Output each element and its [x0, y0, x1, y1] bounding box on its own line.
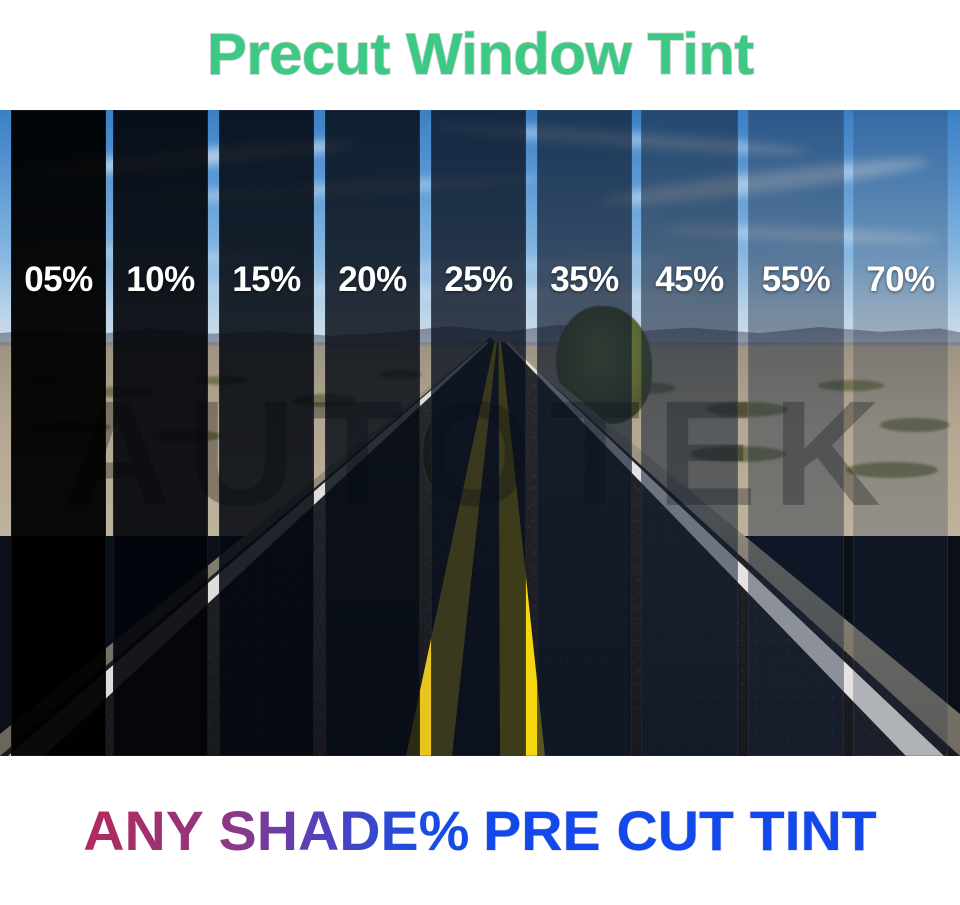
- tagline-bar: ANY SHADE% PRE CUT TINT: [0, 756, 960, 905]
- tint-strip-label: 35%: [550, 262, 619, 297]
- tint-preview-photo: AUTOTEK 05% 10% 15% 20% 25% 35% 45%: [0, 110, 960, 756]
- tint-strip-label: 45%: [655, 262, 724, 297]
- tint-strip-10[interactable]: 10%: [113, 110, 208, 756]
- tint-strip-label: 20%: [338, 262, 407, 297]
- title-bar: Precut Window Tint: [0, 0, 960, 110]
- tint-strip-35[interactable]: 35%: [537, 110, 632, 756]
- tint-strip-15[interactable]: 15%: [219, 110, 314, 756]
- tint-strip-05[interactable]: 05%: [11, 110, 106, 756]
- tint-strip-25[interactable]: 25%: [431, 110, 526, 756]
- tint-strip-20[interactable]: 20%: [325, 110, 420, 756]
- tint-strip-45[interactable]: 45%: [641, 110, 738, 756]
- tagline-pre-cut-tint: PRE CUT TINT: [484, 803, 877, 859]
- page-title: Precut Window Tint: [207, 26, 754, 84]
- tint-strip-label: 05%: [24, 262, 93, 297]
- tint-strip-row: 05% 10% 15% 20% 25% 35% 45% 55%: [0, 110, 960, 756]
- tint-strip-label: 25%: [444, 262, 513, 297]
- tint-strip-label: 15%: [232, 262, 301, 297]
- tint-strip-55[interactable]: 55%: [748, 110, 844, 756]
- tint-shade-chart-poster: Precut Window Tint: [0, 0, 960, 905]
- tint-strip-label: 70%: [866, 262, 935, 297]
- tint-strip-label: 10%: [126, 262, 195, 297]
- tint-strip-70[interactable]: 70%: [853, 110, 948, 756]
- tint-strip-label: 55%: [762, 262, 831, 297]
- tagline-any-shade: ANY SHADE%: [83, 803, 469, 859]
